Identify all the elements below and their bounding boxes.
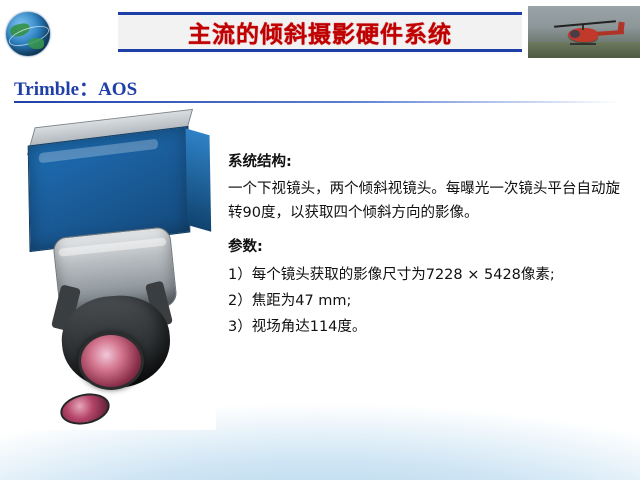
param-item-2: 2）焦距为47 mm; <box>228 288 620 314</box>
slide: 主流的倾斜摄影硬件系统 Trimble：AOS <box>0 0 640 480</box>
globe-ring <box>7 22 50 50</box>
helicopter-rotor <box>554 20 616 27</box>
params-heading: 参数: <box>228 235 620 256</box>
param-item-3: 3）视场角达114度。 <box>228 314 620 340</box>
param-item-1: 1）每个镜头获取的影像尺寸为7228 × 5428像素; <box>228 262 620 288</box>
helicopter-photo <box>528 6 640 58</box>
device-main-lens <box>78 332 144 390</box>
earth-globe-icon <box>6 12 50 56</box>
helicopter-cabin <box>570 30 580 38</box>
title-banner: 主流的倾斜摄影硬件系统 <box>118 12 522 52</box>
slide-header: 主流的倾斜摄影硬件系统 <box>0 0 640 64</box>
content-block: 系统结构: 一个下视镜头，两个倾斜视镜头。每曝光一次镜头平台自动旋转90度，以获… <box>228 150 620 340</box>
heading-divider <box>14 101 622 103</box>
page-title: 主流的倾斜摄影硬件系统 <box>188 15 452 49</box>
device-housing-side <box>186 128 212 231</box>
device-photo <box>16 110 216 430</box>
structure-text: 一个下视镜头，两个倾斜视镜头。每曝光一次镜头平台自动旋转90度，以获取四个倾斜方… <box>228 177 620 225</box>
device-secondary-lens <box>57 389 112 429</box>
section-heading: Trimble：AOS <box>14 74 137 101</box>
structure-heading: 系统结构: <box>228 150 620 171</box>
device-mount-ring <box>58 238 166 257</box>
helicopter-skid <box>570 43 596 45</box>
device-highlight <box>39 139 158 164</box>
